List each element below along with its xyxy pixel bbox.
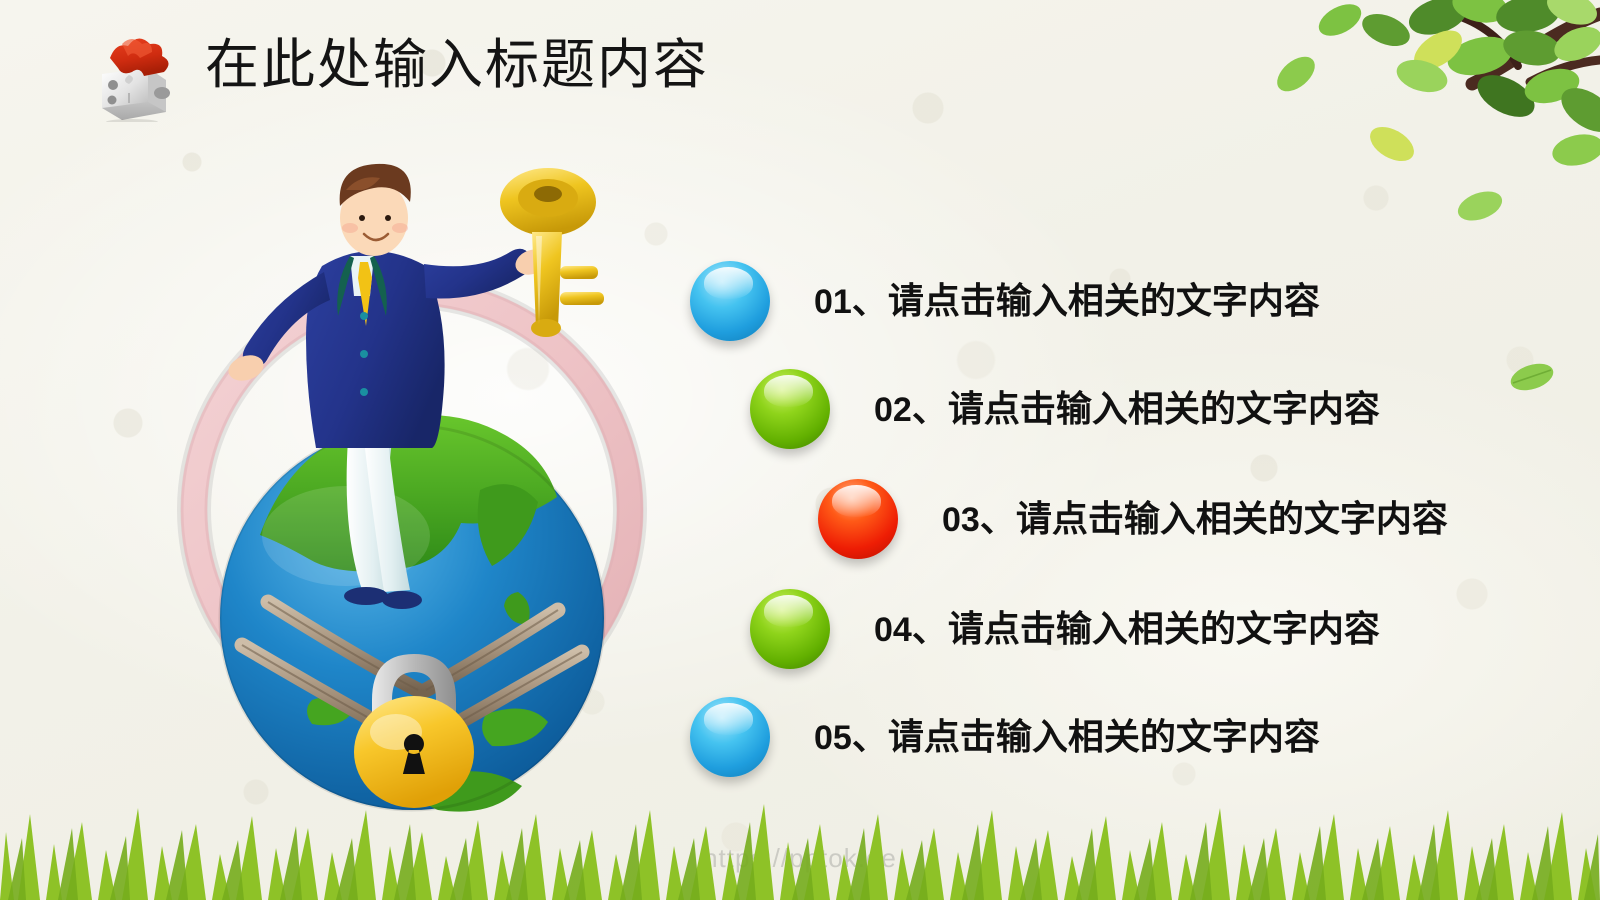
bullet-number: 03 [942, 501, 980, 539]
list-item[interactable]: 02、请点击输入相关的文字内容 [750, 363, 1380, 455]
bullet-separator: 、 [912, 389, 948, 429]
bullet-text: 02、请点击输入相关的文字内容 [874, 387, 1380, 432]
watermark-text: https://pptok.de [0, 843, 1600, 874]
bullet-text: 05、请点击输入相关的文字内容 [814, 715, 1320, 760]
bullet-list: 01、请点击输入相关的文字内容 02、请点击输入相关的文字内容 03、请点击输入… [660, 245, 1600, 805]
main-illustration [150, 140, 700, 820]
bullet-separator: 、 [980, 499, 1016, 539]
list-item[interactable]: 01、请点击输入相关的文字内容 [690, 255, 1320, 347]
page-title: 在此处输入标题内容 [205, 26, 709, 104]
bullet-ball-red [818, 479, 898, 559]
bullet-label: 请点击输入相关的文字内容 [948, 609, 1380, 649]
bullet-separator: 、 [912, 609, 948, 649]
bullet-separator: 、 [852, 281, 888, 321]
bullet-text: 01、请点击输入相关的文字内容 [814, 279, 1320, 324]
bullet-number: 05 [814, 719, 852, 757]
list-item[interactable]: 04、请点击输入相关的文字内容 [750, 583, 1380, 675]
list-item[interactable]: 03、请点击输入相关的文字内容 [818, 473, 1448, 565]
bullet-ball-green [750, 589, 830, 669]
slide-canvas: 在此处输入标题内容 [0, 0, 1600, 900]
bullet-ball-green [750, 369, 830, 449]
bullet-separator: 、 [852, 717, 888, 757]
puzzle-piece-icon [88, 30, 176, 122]
bullet-text: 04、请点击输入相关的文字内容 [874, 607, 1380, 652]
bullet-label: 请点击输入相关的文字内容 [1016, 499, 1448, 539]
bullet-number: 01 [814, 283, 852, 321]
slide-header: 在此处输入标题内容 [0, 0, 1600, 130]
bullet-number: 02 [874, 391, 912, 429]
bullet-number: 04 [874, 611, 912, 649]
bullet-ball-blue [690, 261, 770, 341]
list-item[interactable]: 05、请点击输入相关的文字内容 [690, 691, 1320, 783]
bullet-ball-blue [690, 697, 770, 777]
bullet-label: 请点击输入相关的文字内容 [948, 389, 1380, 429]
bullet-text: 03、请点击输入相关的文字内容 [942, 497, 1448, 542]
bullet-label: 请点击输入相关的文字内容 [888, 281, 1320, 321]
bullet-label: 请点击输入相关的文字内容 [888, 717, 1320, 757]
